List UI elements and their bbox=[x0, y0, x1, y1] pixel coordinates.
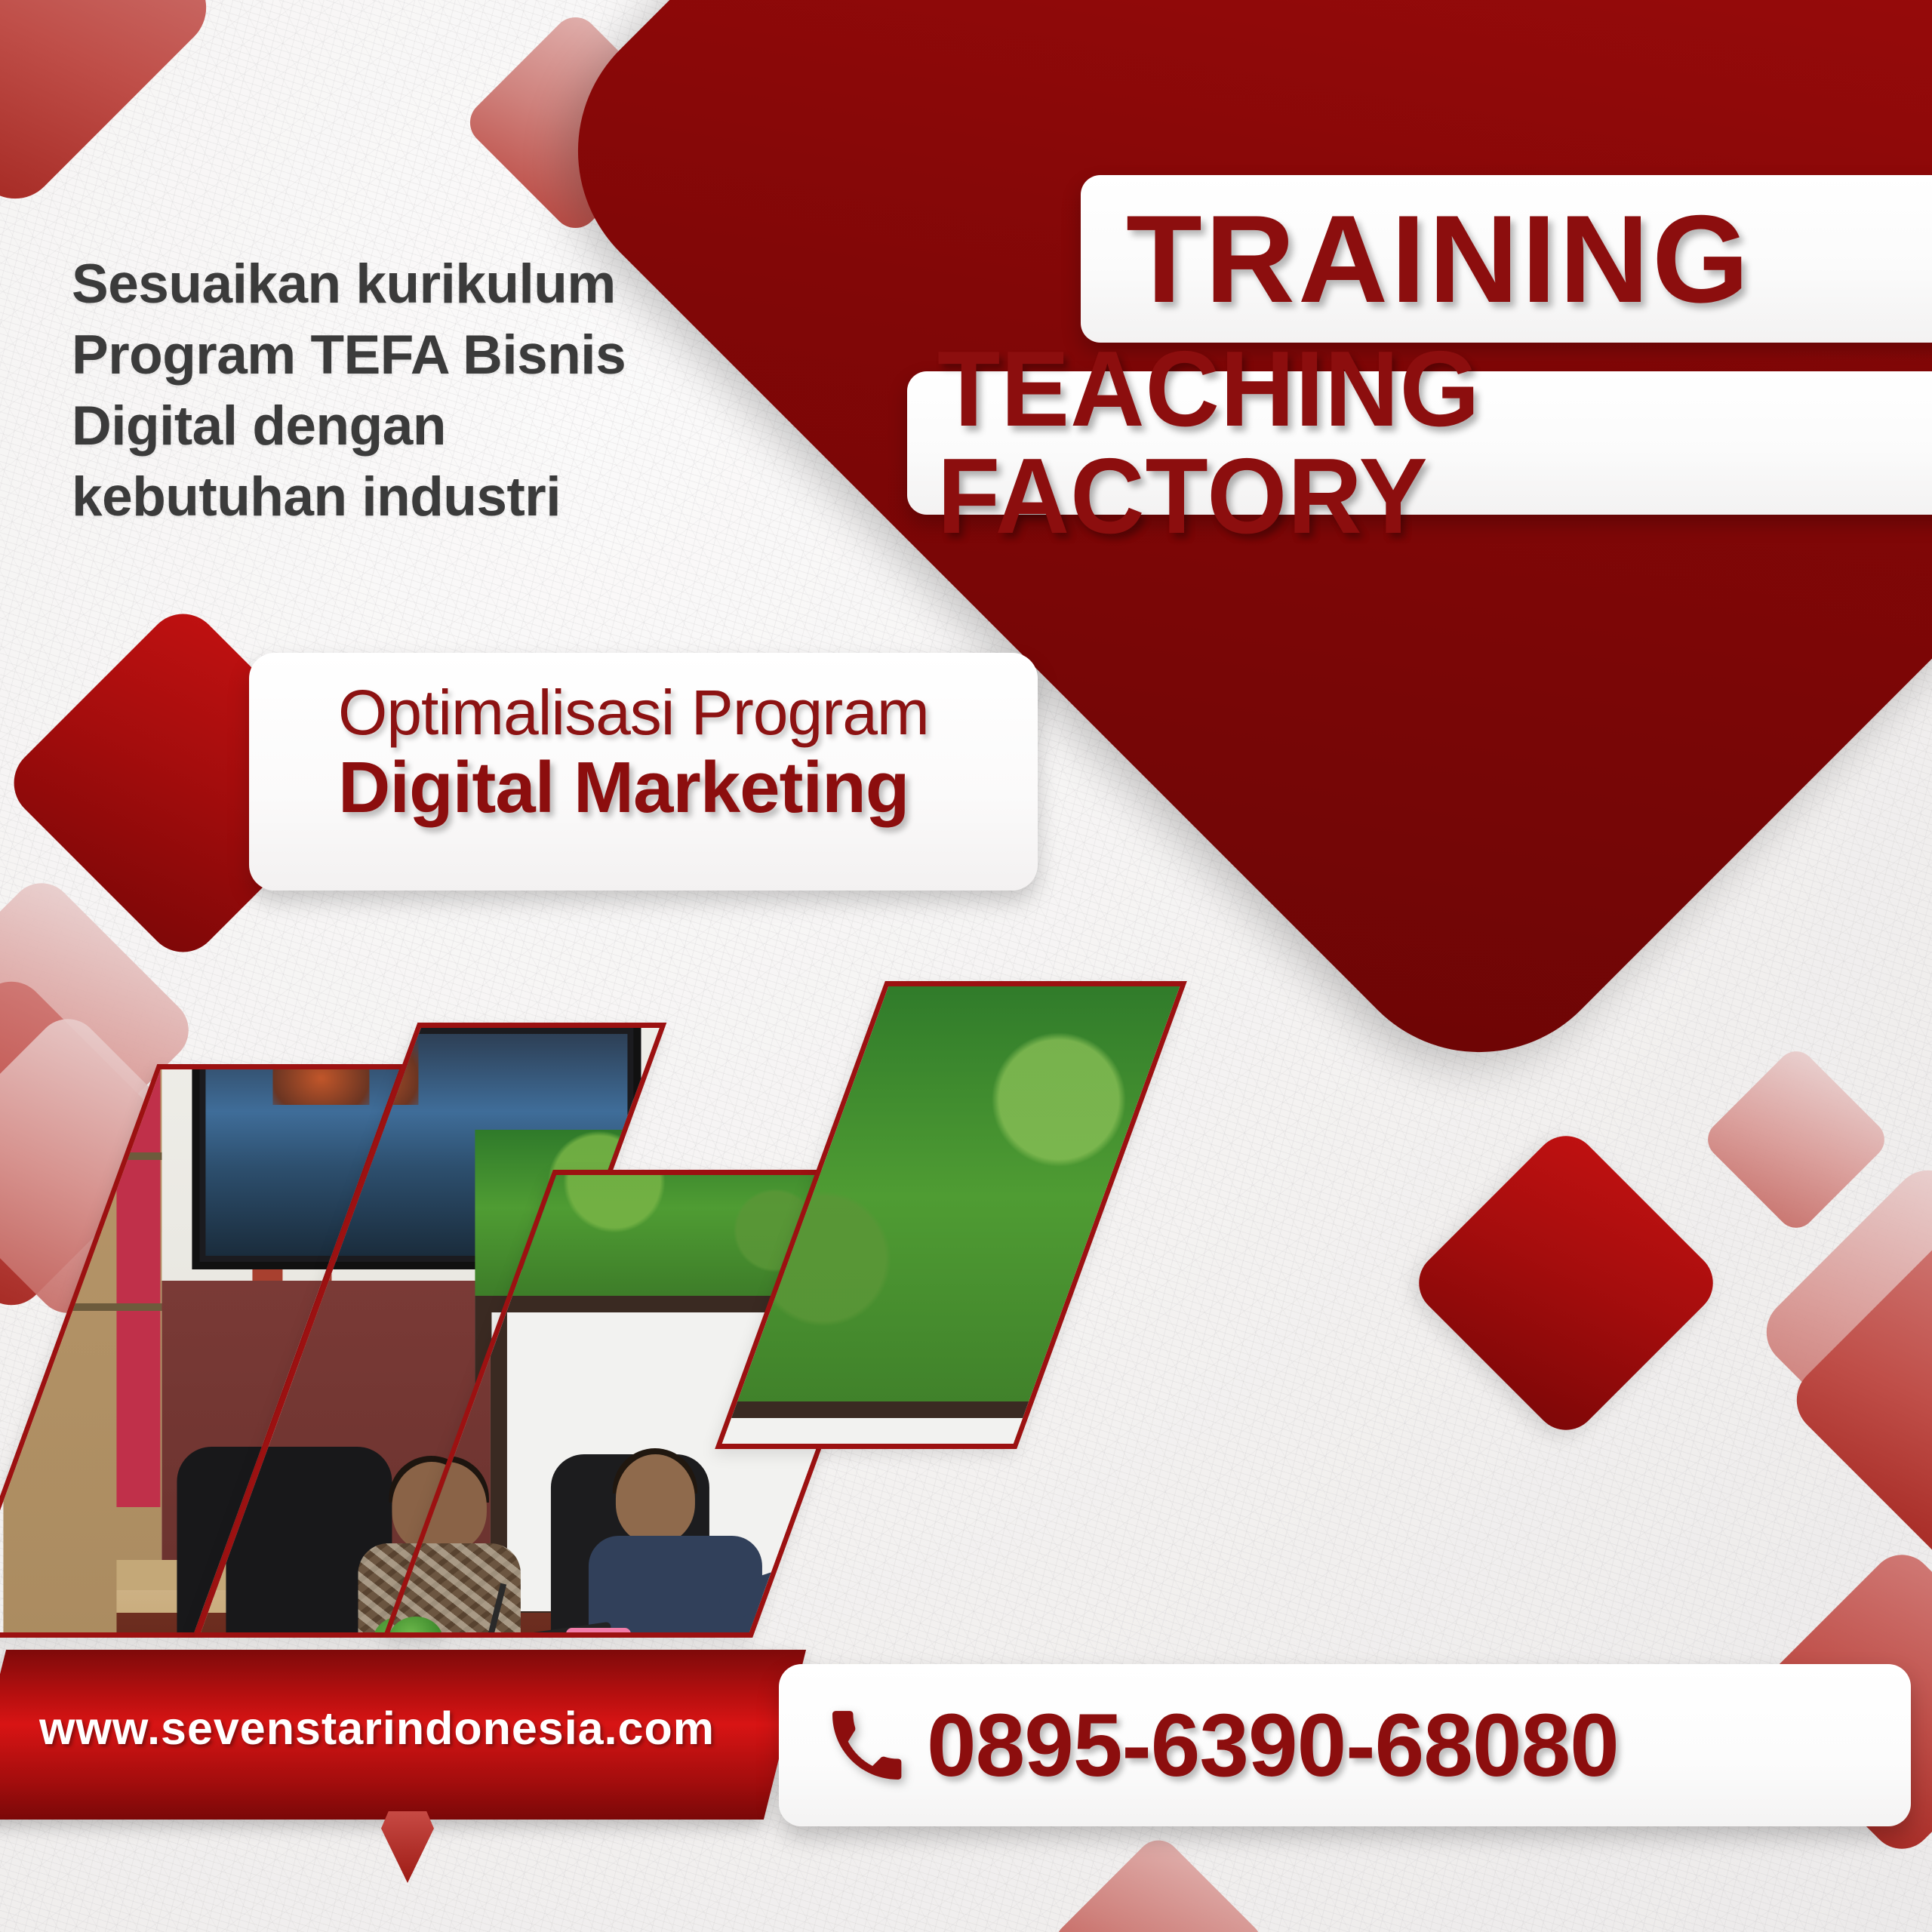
highlight-line-2: Digital Marketing bbox=[338, 747, 1001, 829]
title-training-text: TRAINING bbox=[1126, 197, 1752, 321]
title-plate-teaching-factory: TEACHING FACTORY bbox=[907, 371, 1932, 515]
poster-canvas: Sesuaikan kurikulum Program TEFA Bisnis … bbox=[0, 0, 1932, 1932]
highlight-line-1: Optimalisasi Program bbox=[338, 678, 1001, 747]
decor-diamond-topleft-corner bbox=[0, 0, 223, 216]
phone-plate[interactable]: 0895-6390-68080 bbox=[779, 1664, 1911, 1826]
phone-number-text: 0895-6390-68080 bbox=[927, 1694, 1619, 1797]
website-url[interactable]: www.sevenstarindonesia.com bbox=[39, 1702, 756, 1755]
decor-diamond-right-big bbox=[1406, 1123, 1726, 1443]
phone-icon bbox=[826, 1705, 907, 1786]
photo-collage bbox=[45, 974, 1343, 1638]
footer-banner-tail bbox=[381, 1811, 434, 1883]
decor-diamond-bottom-mid bbox=[1047, 1832, 1271, 1932]
highlight-pill: Optimalisasi Program Digital Marketing bbox=[249, 653, 1038, 891]
decor-diamond-right-small bbox=[1700, 1044, 1893, 1236]
intro-paragraph: Sesuaikan kurikulum Program TEFA Bisnis … bbox=[72, 249, 789, 534]
title-teaching-factory-text: TEACHING FACTORY bbox=[937, 336, 1923, 550]
title-plate-training: TRAINING bbox=[1081, 175, 1932, 343]
